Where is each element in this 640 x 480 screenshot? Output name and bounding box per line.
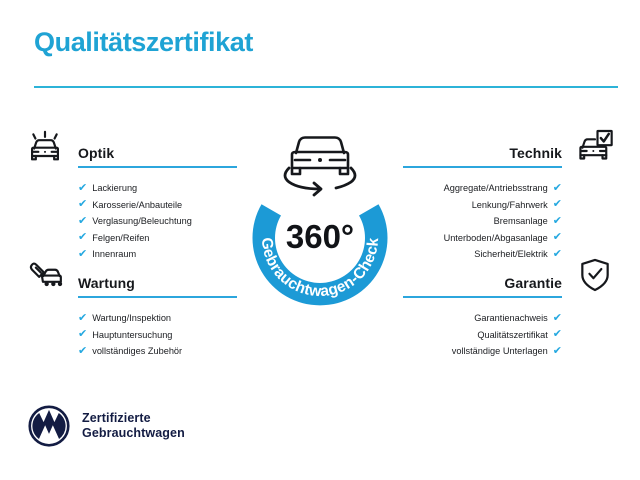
list-item: Garantienachweis✔ <box>403 310 618 327</box>
certificate-page: Qualitätszertifikat Optik <box>0 0 640 480</box>
check-icon: ✔ <box>78 346 87 357</box>
header-divider <box>34 86 618 88</box>
list-item-label: Bremsanlage <box>494 213 548 230</box>
list-item: ✔Hauptuntersuchung <box>22 327 237 344</box>
list-item: vollständige Unterlagen✔ <box>403 343 618 360</box>
check-icon: ✔ <box>78 199 87 210</box>
section-optik-underline <box>78 166 237 168</box>
list-item-label: Verglasung/Beleuchtung <box>92 213 192 230</box>
check-icon: ✔ <box>553 216 562 227</box>
list-item: ✔Verglasung/Beleuchtung <box>22 213 237 230</box>
list-item: ✔Karosserie/Anbauteile <box>22 197 237 214</box>
check-icon: ✔ <box>78 232 87 243</box>
section-wartung: Wartung ✔Wartung/Inspektion ✔Hauptunters… <box>22 256 237 360</box>
section-garantie-list: Garantienachweis✔ Qualitätszertifikat✔ v… <box>403 310 618 360</box>
check-icon: ✔ <box>553 199 562 210</box>
check-icon: ✔ <box>78 313 87 324</box>
list-item-label: Wartung/Inspektion <box>92 310 171 327</box>
list-item-label: vollständige Unterlagen <box>452 343 548 360</box>
check-icon: ✔ <box>553 313 562 324</box>
section-wartung-underline <box>78 296 237 298</box>
footer-line-2: Gebrauchtwagen <box>82 426 185 441</box>
car-checkbox-icon <box>572 126 618 170</box>
check-icon: ✔ <box>553 232 562 243</box>
section-technik-title: Technik <box>509 145 562 161</box>
page-title: Qualitätszertifikat <box>34 28 612 58</box>
section-optik-title: Optik <box>78 145 114 161</box>
section-garantie-header: Garantie <box>403 256 618 302</box>
list-item-label: Aggregate/Antriebsstrang <box>444 180 548 197</box>
volkswagen-logo <box>28 405 70 447</box>
check-icon: ✔ <box>553 183 562 194</box>
list-item-label: Lenkung/Fahrwerk <box>472 197 548 214</box>
check-icon: ✔ <box>78 216 87 227</box>
footer-line-1: Zertifizierte <box>82 411 185 426</box>
section-technik-list: Aggregate/Antriebsstrang✔ Lenkung/Fahrwe… <box>403 180 618 263</box>
section-garantie: Garantie Garantienachweis✔ Qualitätszert… <box>403 256 618 360</box>
header: Qualitätszertifikat <box>34 28 612 58</box>
footer: Zertifizierte Gebrauchtwagen <box>28 405 185 447</box>
check-icon: ✔ <box>553 329 562 340</box>
section-optik-header: Optik <box>22 126 237 172</box>
list-item: Lenkung/Fahrwerk✔ <box>403 197 618 214</box>
list-item: ✔Wartung/Inspektion <box>22 310 237 327</box>
list-item-label: Hauptuntersuchung <box>92 327 172 344</box>
section-garantie-underline <box>403 296 562 298</box>
list-item-label: Karosserie/Anbauteile <box>92 197 182 214</box>
check-icon: ✔ <box>78 329 87 340</box>
list-item-label: Qualitätszertifikat <box>477 327 547 344</box>
section-wartung-title: Wartung <box>78 275 135 291</box>
list-item: ✔Felgen/Reifen <box>22 230 237 247</box>
list-item-label: vollständiges Zubehör <box>92 343 182 360</box>
list-item-label: Lackierung <box>92 180 137 197</box>
check-icon: ✔ <box>78 183 87 194</box>
car-shine-icon <box>22 126 68 170</box>
gebrauchtwagen-check-badge: Gebrauchtwagen-Check 360° <box>237 118 403 316</box>
section-technik-header: Technik <box>403 126 618 172</box>
list-item-label: Garantienachweis <box>474 310 548 327</box>
shield-check-icon <box>572 256 618 300</box>
list-item: Qualitätszertifikat✔ <box>403 327 618 344</box>
badge-center-label: 360° <box>286 218 354 255</box>
section-wartung-header: Wartung <box>22 256 237 302</box>
list-item: Bremsanlage✔ <box>403 213 618 230</box>
list-item: Unterboden/Abgasanlage✔ <box>403 230 618 247</box>
list-item: ✔vollständiges Zubehör <box>22 343 237 360</box>
list-item-label: Felgen/Reifen <box>92 230 149 247</box>
car-rotate-icon <box>285 138 355 196</box>
car-service-tool-icon <box>22 256 68 300</box>
section-optik-list: ✔Lackierung ✔Karosserie/Anbauteile ✔Verg… <box>22 180 237 263</box>
section-technik: Technik Aggregate/Antriebsstrang✔ Lenkun… <box>403 126 618 263</box>
section-technik-underline <box>403 166 562 168</box>
section-optik: Optik ✔Lackierung ✔Karosserie/Anbauteile… <box>22 126 237 263</box>
footer-text: Zertifizierte Gebrauchtwagen <box>82 411 185 441</box>
section-wartung-list: ✔Wartung/Inspektion ✔Hauptuntersuchung ✔… <box>22 310 237 360</box>
list-item-label: Unterboden/Abgasanlage <box>444 230 548 247</box>
check-icon: ✔ <box>553 346 562 357</box>
section-garantie-title: Garantie <box>504 275 562 291</box>
list-item: Aggregate/Antriebsstrang✔ <box>403 180 618 197</box>
list-item: ✔Lackierung <box>22 180 237 197</box>
